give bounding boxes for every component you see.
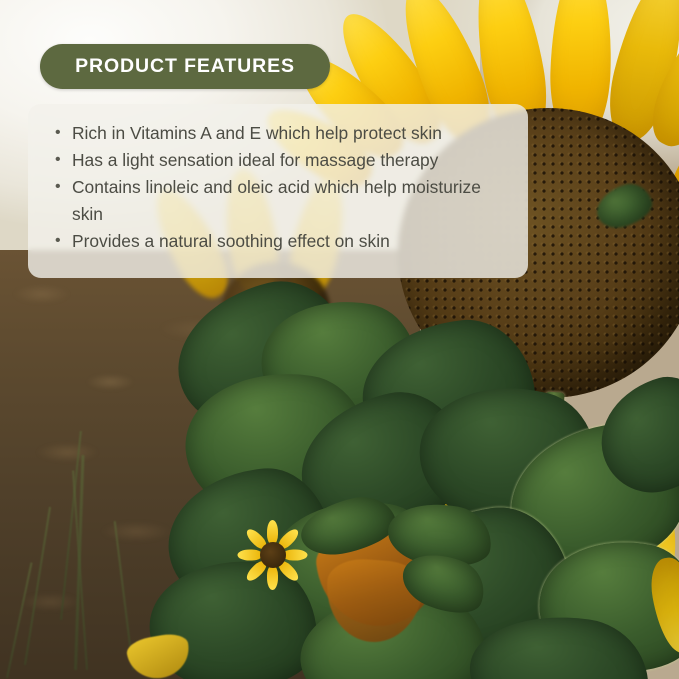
small-sunflower (238, 520, 308, 590)
background-photo (0, 0, 679, 679)
feature-text: Provides a natural soothing effect on sk… (72, 228, 484, 255)
product-feature-image: Rich in Vitamins A and E which help prot… (0, 0, 679, 679)
banner-title: PRODUCT FEATURES (75, 55, 295, 78)
feature-text: Has a light sensation ideal for massage … (72, 147, 484, 174)
list-item: Rich in Vitamins A and E which help prot… (52, 120, 484, 147)
feature-text: Rich in Vitamins A and E which help prot… (72, 120, 484, 147)
small-sunflower-petal (284, 550, 308, 561)
features-list: Rich in Vitamins A and E which help prot… (28, 104, 498, 255)
small-sunflower-petal (267, 520, 278, 544)
small-sunflower-petal (267, 566, 278, 590)
features-panel: Rich in Vitamins A and E which help prot… (28, 104, 528, 278)
list-item: Contains linoleic and oleic acid which h… (52, 174, 484, 228)
product-features-banner: PRODUCT FEATURES (40, 44, 330, 89)
list-item: Has a light sensation ideal for massage … (52, 147, 484, 174)
small-sunflower-petal (238, 550, 262, 561)
feature-text: Contains linoleic and oleic acid which h… (72, 174, 484, 228)
list-item: Provides a natural soothing effect on sk… (52, 228, 484, 255)
small-sunflower-center (260, 542, 286, 568)
